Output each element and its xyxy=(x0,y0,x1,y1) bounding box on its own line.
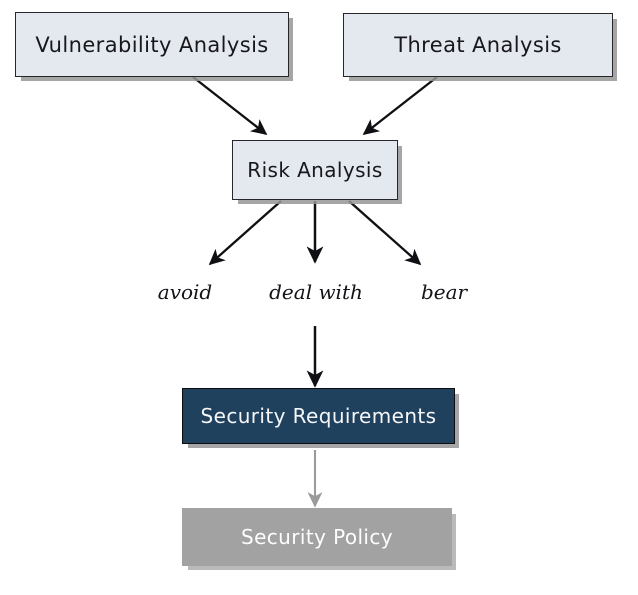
edge-risk-to-bear xyxy=(349,201,420,264)
edge-risk-to-avoid xyxy=(210,201,281,264)
diagram-canvas: Vulnerability Analysis Threat Analysis R… xyxy=(0,0,638,595)
node-security-requirements[interactable]: Security Requirements xyxy=(182,388,455,444)
node-risk-analysis-label: Risk Analysis xyxy=(247,158,382,182)
edge-label-deal-with: deal with xyxy=(258,280,374,304)
node-security-requirements-label: Security Requirements xyxy=(201,404,437,428)
edge-threat-to-risk xyxy=(364,77,437,134)
edge-label-bear: bear xyxy=(404,280,484,304)
node-vulnerability-analysis-label: Vulnerability Analysis xyxy=(35,33,268,57)
node-threat-analysis[interactable]: Threat Analysis xyxy=(343,13,613,77)
node-vulnerability-analysis[interactable]: Vulnerability Analysis xyxy=(15,12,289,77)
node-risk-analysis[interactable]: Risk Analysis xyxy=(232,140,398,200)
edge-label-avoid: avoid xyxy=(140,280,230,304)
node-security-policy[interactable]: Security Policy xyxy=(182,508,452,566)
edge-vulnerability-to-risk xyxy=(193,77,266,134)
node-security-policy-label: Security Policy xyxy=(241,525,393,549)
node-threat-analysis-label: Threat Analysis xyxy=(394,33,562,57)
